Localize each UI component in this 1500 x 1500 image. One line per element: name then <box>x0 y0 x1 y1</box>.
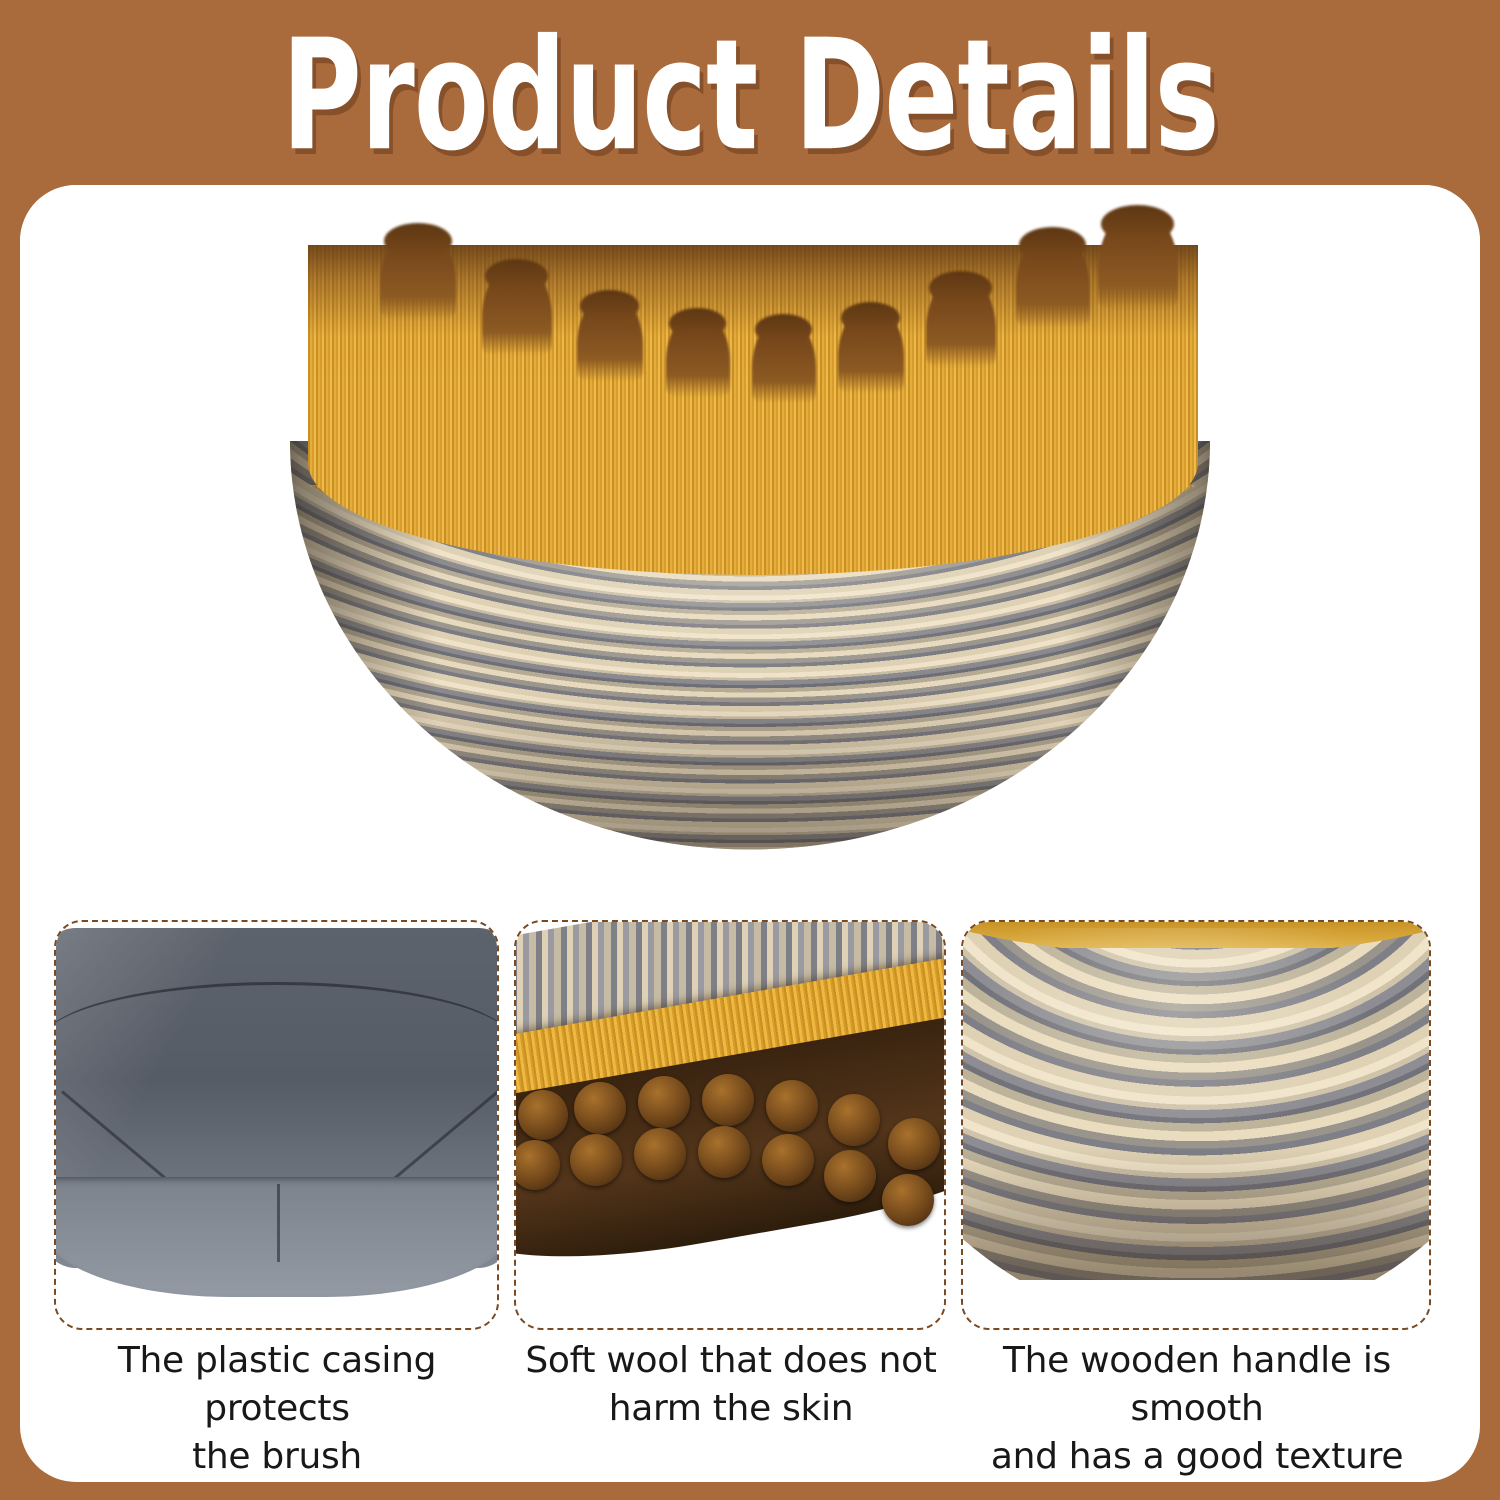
caption-plastic-casing: The plastic casing protects the brush <box>46 1337 508 1481</box>
thumb-soft-wool[interactable] <box>514 920 946 1330</box>
wool-knob <box>702 1074 754 1126</box>
tuft-cap <box>580 290 639 322</box>
wool-knob <box>638 1076 690 1128</box>
caption-line: and has a good texture <box>958 1433 1436 1481</box>
page-title: Product Details <box>282 19 1219 172</box>
wool-knob <box>518 1090 568 1140</box>
caption-line: harm the skin <box>516 1385 946 1433</box>
wool-knob <box>882 1174 934 1226</box>
page-header: Product Details <box>0 0 1500 185</box>
wood-grain-shading <box>961 928 1431 1280</box>
caption-line: Soft wool that does not <box>516 1337 946 1385</box>
plastic-seam-center <box>277 1184 280 1262</box>
caption-line: The plastic casing protects <box>46 1337 508 1433</box>
tuft-cap <box>841 302 900 334</box>
tuft-cap <box>1019 227 1086 263</box>
hero-section <box>20 185 1480 910</box>
tuft-cap <box>755 314 812 345</box>
thumb-wooden-handle[interactable] <box>961 920 1431 1330</box>
product-details-page: Product Details <box>0 0 1500 1500</box>
wool-knob <box>634 1128 686 1180</box>
tuft-cap <box>669 308 726 339</box>
tuft-cap <box>929 271 992 305</box>
wool-knob <box>824 1150 876 1202</box>
brush-hero-image <box>280 205 1220 895</box>
tuft-cap <box>384 223 452 259</box>
caption-line: the brush <box>46 1433 508 1481</box>
wool-knob <box>574 1082 626 1134</box>
tuft-cap <box>485 259 548 293</box>
caption-wooden-handle: The wooden handle is smooth and has a go… <box>958 1337 1436 1481</box>
thumbnail-row <box>20 910 1480 1330</box>
caption-row: The plastic casing protects the brush So… <box>20 1337 1480 1467</box>
wool-knob <box>698 1126 750 1178</box>
thumb-plastic-casing[interactable] <box>54 920 499 1330</box>
plastic-seam-arc <box>54 982 499 1185</box>
tuft-cap <box>1101 205 1174 243</box>
content-card: The plastic casing protects the brush So… <box>20 185 1480 1482</box>
wool-knob <box>570 1134 622 1186</box>
caption-soft-wool: Soft wool that does not harm the skin <box>516 1337 946 1433</box>
wool-knob <box>762 1134 814 1186</box>
wool-knob <box>888 1118 940 1170</box>
wool-knob <box>828 1094 880 1146</box>
wool-knob <box>766 1080 818 1132</box>
caption-line: The wooden handle is smooth <box>958 1337 1436 1433</box>
